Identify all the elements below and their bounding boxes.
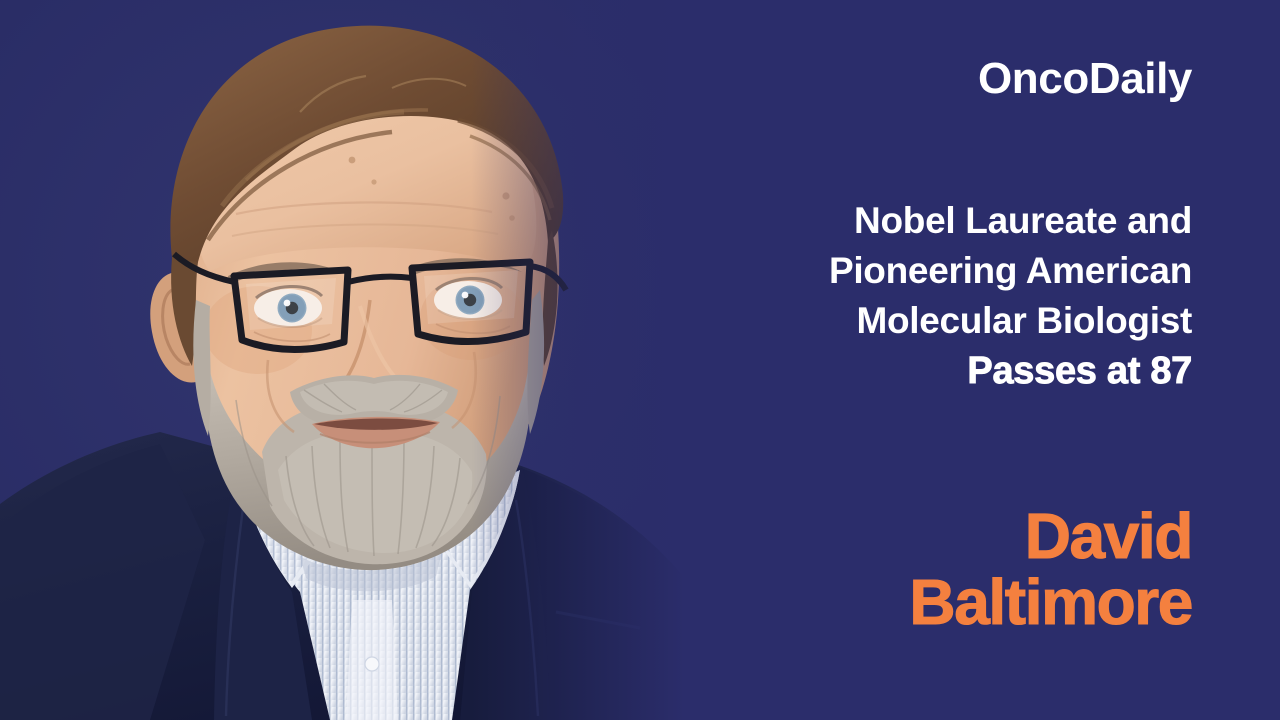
oncodaily-logo: OncoDaily [722,57,1192,101]
subject-first-name: David [722,503,1192,569]
headline: Nobel Laureate and Pioneering American M… [722,196,1192,396]
subject-name: David Baltimore [722,503,1192,635]
headline-line-3: Molecular Biologist [722,296,1192,346]
news-announcement-card: OncoDaily Nobel Laureate and Pioneering … [0,0,1280,720]
text-column: OncoDaily Nobel Laureate and Pioneering … [722,0,1192,720]
headline-line-2: Pioneering American [722,246,1192,296]
headline-line-1: Nobel Laureate and [722,196,1192,246]
subject-portrait-photo [0,0,760,720]
headline-line-4: Passes at 87 [722,346,1192,396]
subject-last-name: Baltimore [722,569,1192,635]
